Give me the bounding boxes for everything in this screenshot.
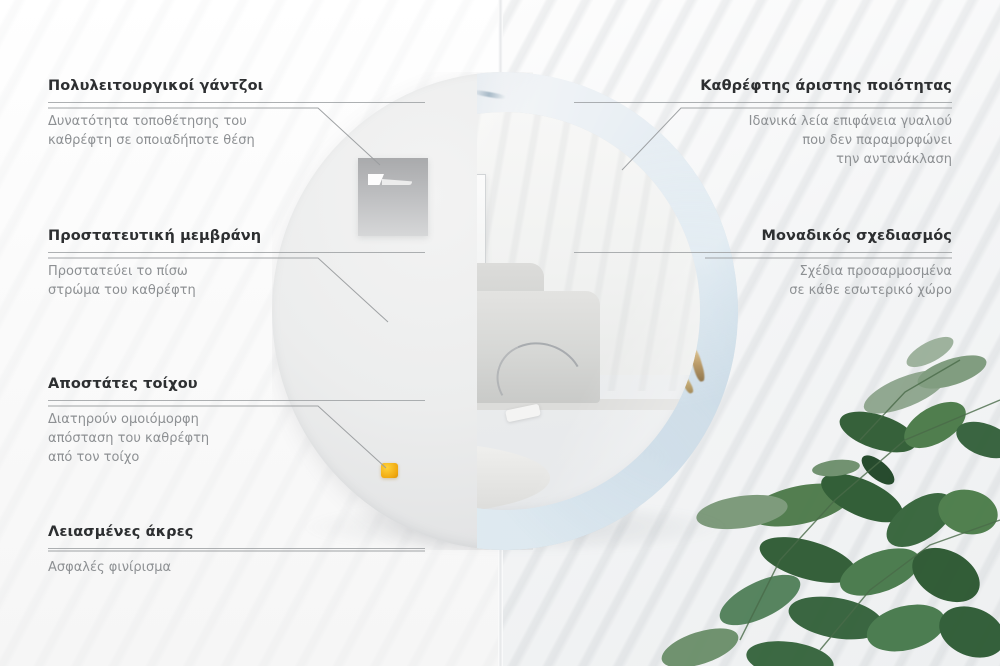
feature-divider <box>48 252 425 253</box>
feature-divider <box>574 252 952 253</box>
feature-divider <box>574 102 952 103</box>
feature-block-design: Μοναδικός σχεδιασμός Σχέδια προσαρμοσμέν… <box>574 228 952 300</box>
feature-description: Ασφαλές φινίρισμα <box>48 558 425 577</box>
feature-description: Διατηρούν ομοιόμορφη απόσταση του καθρέφ… <box>48 410 425 468</box>
feature-block-edges: Λειασμένες άκρες Ασφαλές φινίρισμα <box>48 524 425 577</box>
feature-divider <box>48 548 425 549</box>
feature-title: Πολυλειτουργικοί γάντζοι <box>48 78 425 94</box>
hook-icon <box>368 174 410 186</box>
hook-mounting-plate <box>358 158 428 236</box>
feature-description: Δυνατότητα τοποθέτησης του καθρέφτη σε ο… <box>48 112 425 150</box>
product-feature-infographic: Πολυλειτουργικοί γάντζοι Δυνατότητα τοπο… <box>0 0 1000 666</box>
feature-block-quality: Καθρέφτης άριστης ποιότητας Ιδανικά λεία… <box>574 78 952 170</box>
feature-block-hooks: Πολυλειτουργικοί γάντζοι Δυνατότητα τοπο… <box>48 78 425 150</box>
feature-title: Λειασμένες άκρες <box>48 524 425 540</box>
feature-description: Προστατεύει το πίσω στρώμα του καθρέφτη <box>48 262 425 300</box>
feature-block-membrane: Προστατευτική μεμβράνη Προστατεύει το πί… <box>48 228 425 300</box>
feature-divider <box>48 400 425 401</box>
feature-description: Σχέδια προσαρμοσμένα σε κάθε εσωτερικό χ… <box>574 262 952 300</box>
feature-title: Προστατευτική μεμβράνη <box>48 228 425 244</box>
feature-description: Ιδανικά λεία επιφάνεια γυαλιού που δεν π… <box>574 112 952 170</box>
feature-title: Μοναδικός σχεδιασμός <box>574 228 952 244</box>
feature-divider <box>48 102 425 103</box>
feature-block-spacers: Αποστάτες τοίχου Διατηρούν ομοιόμορφη απ… <box>48 376 425 468</box>
feature-title: Καθρέφτης άριστης ποιότητας <box>574 78 952 94</box>
feature-title: Αποστάτες τοίχου <box>48 376 425 392</box>
